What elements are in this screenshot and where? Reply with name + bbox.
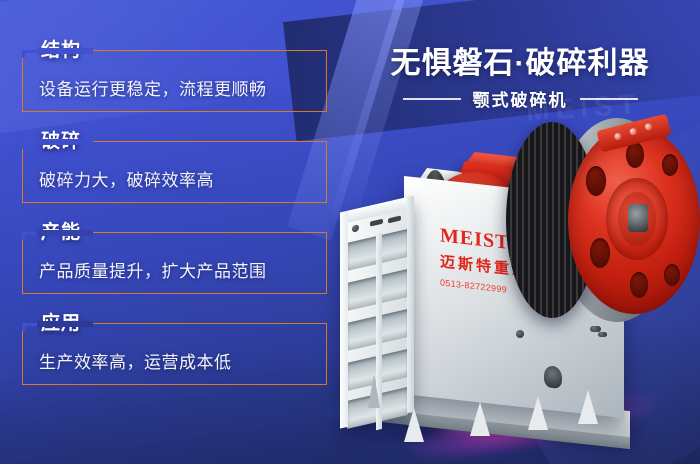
promo-banner: MEIST 无惧磐石·破碎利器 颚式破碎机 结构 设备运行更稳定，流程更顺畅 破… [0, 0, 700, 464]
corner-notch-vertical [22, 232, 25, 240]
title-backdrop [37, 139, 93, 145]
base-gusset [578, 390, 598, 424]
corner-notch-vertical [22, 50, 25, 58]
flywheel-hole [586, 166, 606, 196]
rule-right [580, 98, 638, 100]
flywheel-hole [664, 264, 680, 286]
corner-notch-vertical [22, 141, 25, 149]
flywheel-hole [630, 272, 648, 298]
feature-item-capacity[interactable]: 产能 产品质量提升，扩大产品范围 [22, 232, 327, 294]
base-gusset-small [368, 374, 380, 408]
feature-item-structure[interactable]: 结构 设备运行更稳定，流程更顺畅 [22, 50, 327, 112]
base-gusset [470, 402, 490, 436]
title-backdrop [37, 230, 93, 236]
title-backdrop [37, 48, 93, 54]
flywheel-assembly [502, 118, 700, 324]
feature-item-application[interactable]: 应用 生产效率高，运营成本低 [22, 323, 327, 385]
base-gusset [528, 396, 548, 430]
bracket-bolt [629, 127, 637, 135]
side-post-left [340, 211, 348, 429]
flywheel-hole [626, 142, 644, 168]
feature-description: 破碎力大，破碎效率高 [39, 166, 318, 191]
side-post-right [407, 195, 414, 413]
bracket-bolt [644, 123, 652, 131]
feature-description: 产品质量提升，扩大产品范围 [39, 257, 318, 282]
body-slot [598, 332, 607, 337]
base-gusset [404, 408, 424, 442]
flywheel-hole [590, 238, 610, 268]
title-backdrop [37, 321, 93, 327]
body-bolt [516, 330, 524, 338]
feature-description: 生产效率高，运营成本低 [39, 348, 318, 373]
feature-list: 结构 设备运行更稳定，流程更顺畅 破碎 破碎力大，破碎效率高 产能 产品质量提升… [22, 50, 327, 414]
subtitle-row: 颚式破碎机 [350, 86, 690, 111]
rule-left [403, 98, 461, 100]
bracket-bolt [614, 132, 622, 140]
feature-item-crushing[interactable]: 破碎 破碎力大，破碎效率高 [22, 141, 327, 203]
feature-description: 设备运行更稳定，流程更顺畅 [39, 75, 318, 100]
flywheel-hole [662, 154, 678, 176]
page-title: 无惧磐石·破碎利器 [350, 38, 690, 82]
jaw-crusher-illustration: MEIST 迈斯特重工 0513-82722999 [332, 126, 700, 464]
corner-notch-vertical [22, 323, 25, 331]
page-subtitle: 颚式破碎机 [473, 86, 568, 111]
flywheel-shaft [628, 204, 648, 232]
